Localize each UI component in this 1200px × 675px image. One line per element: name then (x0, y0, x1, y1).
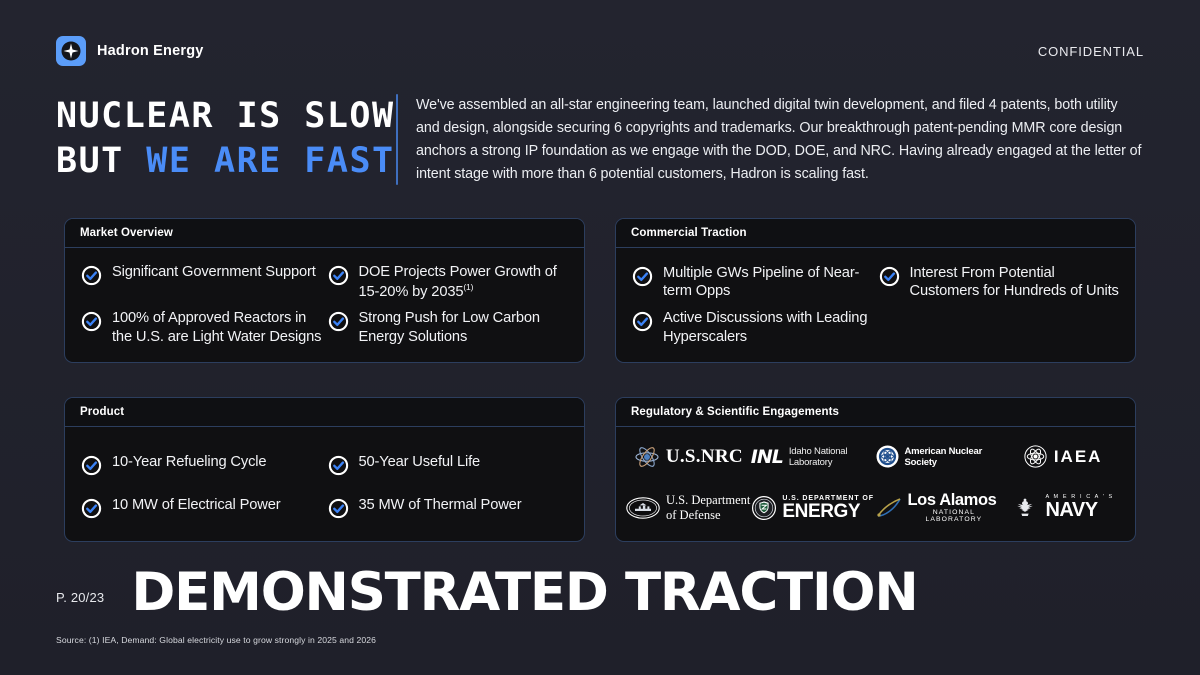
logo-americas-navy: A M E R I C A ' S NAVY (1011, 495, 1113, 521)
card-header: Commercial Traction (616, 219, 1135, 248)
feature-label: Significant Government Support (112, 263, 316, 282)
card-body: Significant Government Support DOE Proje… (65, 248, 584, 362)
card-header: Regulatory & Scientific Engagements (616, 398, 1135, 427)
feature-label: Strong Push for Low Carbon Energy Soluti… (359, 309, 569, 346)
hero-body-text: We've assembled an all-star engineering … (416, 92, 1144, 187)
feature-label: 10-Year Refueling Cycle (112, 453, 266, 472)
logo-american-nuclear-society: American Nuclear Society (876, 445, 1001, 468)
check-circle-icon (81, 311, 102, 332)
feature-item: 50-Year Useful Life (328, 453, 569, 476)
logo-text-stack: A M E R I C A ' S NAVY (1045, 495, 1113, 521)
logo-label: U.S. Department of Defense (666, 493, 751, 523)
check-circle-icon (632, 311, 653, 332)
logo-idaho-national-laboratory: INL Idaho National Laboratory (751, 446, 876, 468)
feature-item: Strong Push for Low Carbon Energy Soluti… (328, 309, 569, 346)
headline-line-1: NUCLEAR IS SLOW (56, 94, 386, 139)
logo-label: Idaho National Laboratory (789, 446, 876, 468)
nrc-atom-icon (634, 446, 660, 468)
card-header: Market Overview (65, 219, 584, 248)
card-body: 10-Year Refueling Cycle 50-Year Useful L… (65, 427, 584, 541)
card-market-overview: Market Overview Significant Government S… (64, 218, 585, 363)
headline-line-2: BUT WE ARE FAST (56, 139, 386, 184)
feature-item: 100% of Approved Reactors in the U.S. ar… (81, 309, 322, 346)
logo-label: IAEA (1054, 447, 1103, 467)
hero-divider (396, 94, 398, 185)
card-title: Regulatory & Scientific Engagements (631, 406, 839, 418)
partner-logo-grid: U.S.NRC INL Idaho National Laboratory (616, 427, 1135, 541)
card-regulatory-engagements: Regulatory & Scientific Engagements U.S.… (615, 397, 1136, 542)
headline-line-1-text: NUCLEAR IS SLOW (56, 96, 395, 136)
feature-label-text: DOE Projects Power Growth of 15-20% by 2… (359, 264, 557, 300)
brand-name: Hadron Energy (97, 43, 204, 59)
logo-label: NAVY (1045, 500, 1113, 520)
feature-item: 10 MW of Electrical Power (81, 496, 322, 519)
headline-line-2-blue: WE ARE FAST (146, 141, 394, 181)
headline-line-2-white: BUT (56, 141, 146, 181)
feature-label: Active Discussions with Leading Hypersca… (663, 309, 873, 346)
iaea-atom-icon (1023, 445, 1048, 468)
feature-item-empty (879, 309, 1120, 346)
card-title: Commercial Traction (631, 227, 747, 239)
card-grid: Market Overview Significant Government S… (64, 218, 1136, 542)
feature-label: DOE Projects Power Growth of 15-20% by 2… (359, 263, 569, 301)
card-commercial-traction: Commercial Traction Multiple GWs Pipelin… (615, 218, 1136, 363)
check-circle-icon (879, 266, 900, 287)
feature-label: 35 MW of Thermal Power (359, 496, 522, 515)
feature-label: Multiple GWs Pipeline of Near-term Opps (663, 264, 873, 301)
feature-item: Interest From Potential Customers for Hu… (879, 264, 1120, 301)
brand-lockup[interactable]: Hadron Energy (56, 36, 204, 66)
hero-headline: NUCLEAR IS SLOW BUT WE ARE FAST (56, 92, 386, 184)
navy-eagle-icon (1011, 497, 1039, 519)
logo-text-stack: Los Alamos NATIONAL LABORATORY (908, 492, 1001, 524)
check-circle-icon (328, 265, 349, 286)
los-alamos-icon (876, 496, 902, 520)
confidential-label: CONFIDENTIAL (1038, 44, 1144, 59)
feature-item: 10-Year Refueling Cycle (81, 453, 322, 476)
feature-label: 50-Year Useful Life (359, 453, 481, 472)
check-circle-icon (328, 311, 349, 332)
page-number: P. 20/23 (56, 590, 104, 619)
card-body: Multiple GWs Pipeline of Near-term Opps … (616, 248, 1135, 362)
logo-text-stack: U.S. DEPARTMENT OF ENERGY (782, 495, 874, 521)
footnote-marker: (1) (463, 282, 473, 292)
check-circle-icon (81, 498, 102, 519)
card-product: Product 10-Year Refueling Cycle (64, 397, 585, 542)
source-note: Source: (1) IEA, Demand: Global electric… (56, 635, 1144, 645)
card-title: Product (80, 406, 124, 418)
footer: P. 20/23 DEMONSTRATED TRACTION Source: (… (56, 566, 1144, 645)
logo-us-nrc: U.S.NRC (634, 446, 743, 468)
feature-label: Interest From Potential Customers for Hu… (910, 264, 1120, 301)
card-title: Market Overview (80, 227, 173, 239)
feature-label: 10 MW of Electrical Power (112, 496, 280, 515)
star-burst-icon (56, 36, 86, 66)
feature-item: Active Discussions with Leading Hypersca… (632, 309, 873, 346)
logo-label: ENERGY (782, 502, 874, 521)
logo-us-department-of-defense: U.S. Department of Defense (626, 493, 751, 523)
logo-us-department-of-energy: U.S. DEPARTMENT OF ENERGY (752, 495, 874, 521)
check-circle-icon (328, 455, 349, 476)
doe-seal-icon (752, 496, 776, 520)
check-circle-icon (81, 265, 102, 286)
logo-label: American Nuclear Society (905, 446, 1001, 468)
feature-label: 100% of Approved Reactors in the U.S. ar… (112, 309, 322, 346)
feature-item: 35 MW of Thermal Power (328, 496, 569, 519)
hero-section: NUCLEAR IS SLOW BUT WE ARE FAST We've as… (56, 92, 1144, 187)
logo-label: Los Alamos (908, 492, 1001, 509)
check-circle-icon (632, 266, 653, 287)
top-bar: Hadron Energy CONFIDENTIAL (56, 33, 1144, 69)
footer-row: P. 20/23 DEMONSTRATED TRACTION (56, 566, 1144, 619)
ans-seal-icon (876, 445, 899, 468)
logo-sublabel: NATIONAL LABORATORY (908, 509, 1001, 523)
dod-seal-icon (626, 497, 660, 519)
logo-abbr: INL (751, 446, 783, 468)
slide-root: Hadron Energy CONFIDENTIAL NUCLEAR IS SL… (0, 0, 1200, 675)
logo-iaea: IAEA (1023, 445, 1103, 468)
slide-title: DEMONSTRATED TRACTION (131, 566, 917, 619)
card-header: Product (65, 398, 584, 427)
feature-item: Significant Government Support (81, 263, 322, 301)
logo-label-text: U.S. Department of Defense (666, 493, 750, 522)
feature-item: DOE Projects Power Growth of 15-20% by 2… (328, 263, 569, 301)
logo-los-alamos-national-laboratory: Los Alamos NATIONAL LABORATORY (876, 492, 1001, 524)
check-circle-icon (328, 498, 349, 519)
logo-label: U.S.NRC (666, 446, 743, 468)
check-circle-icon (81, 455, 102, 476)
feature-item: Multiple GWs Pipeline of Near-term Opps (632, 264, 873, 301)
